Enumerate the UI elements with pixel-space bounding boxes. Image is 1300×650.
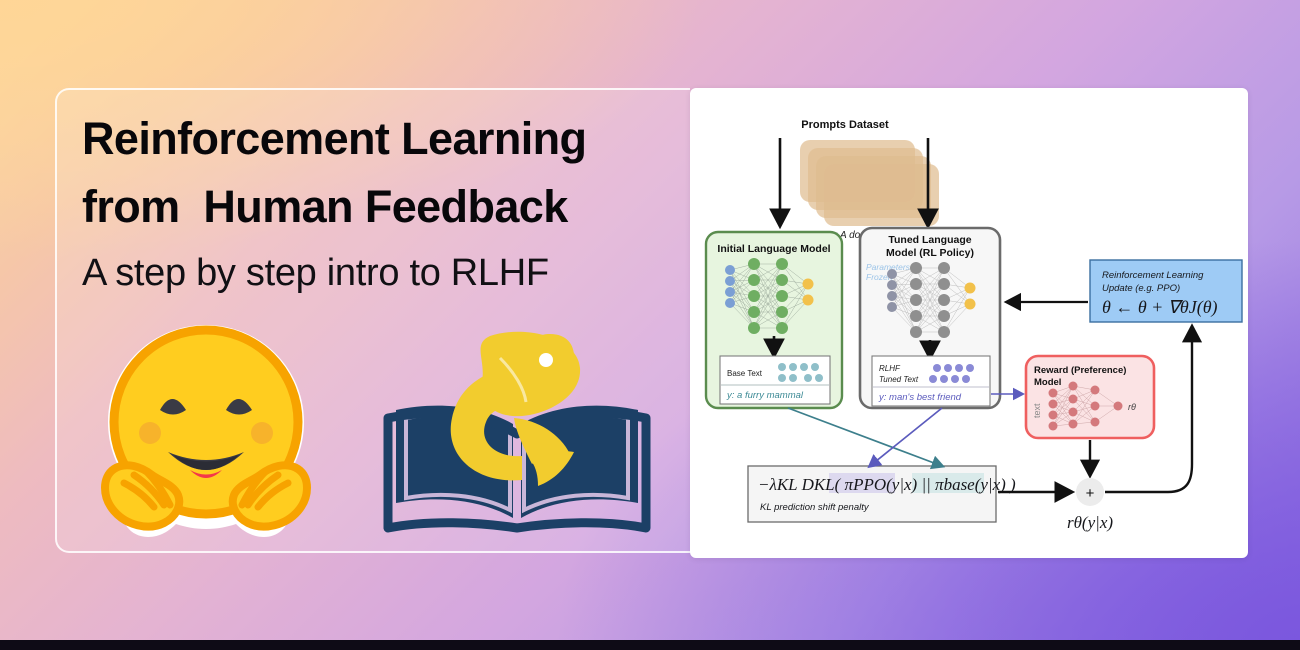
deep-rl-course-logo xyxy=(382,322,652,537)
tuned-text-box: RLHF Tuned Text y: man's best friend xyxy=(872,356,990,406)
reward-model-output-label: rθ xyxy=(1128,402,1136,412)
page-title-line-1: Reinforcement Learning xyxy=(82,105,682,173)
reward-model-title-2: Model xyxy=(1034,377,1061,388)
prompts-dataset-cards xyxy=(800,140,939,226)
tuned-model-title-2: Model (RL Policy) xyxy=(886,247,974,259)
rl-update-line-1: Reinforcement Learning xyxy=(1102,270,1204,281)
page-subtitle: A step by step intro to RLHF xyxy=(82,241,682,305)
base-text-label: Base Text xyxy=(727,369,763,378)
rlhf-diagram-card: Prompts Dataset x: A dog is... Initial L… xyxy=(690,88,1248,558)
poster-canvas: Reinforcement Learning from Human Feedba… xyxy=(0,0,1300,650)
arrow-basetext-to-kl xyxy=(788,408,942,466)
bottom-bar xyxy=(0,640,1300,650)
base-text-output: y: a furry mammal xyxy=(726,390,804,401)
reward-model-title-1: Reward (Preference) xyxy=(1034,365,1126,376)
rl-update-box: Reinforcement Learning Update (e.g. PPO)… xyxy=(1090,260,1242,322)
tuned-model-title-1: Tuned Language xyxy=(888,234,971,246)
initial-language-model-box: Initial Language Model xyxy=(706,232,842,408)
rl-update-formula: θ ← θ + ∇θJ(θ) xyxy=(1102,297,1218,318)
initial-model-title: Initial Language Model xyxy=(717,243,830,255)
kl-penalty-formula: −λKL DKL( πPPO(y|x) || πbase(y|x) ) xyxy=(758,475,1016,494)
reward-model-side-label: text xyxy=(1032,403,1042,418)
tuned-text-label-2: Tuned Text xyxy=(879,375,919,384)
tuned-language-model-box: Tuned Language Model (RL Policy) Paramet… xyxy=(860,228,1000,408)
prompts-dataset-group: Prompts Dataset x: A dog is... xyxy=(780,119,939,241)
title-block: Reinforcement Learning from Human Feedba… xyxy=(82,105,682,305)
base-text-box: Base Text y: a furry mammal xyxy=(720,356,830,404)
tuned-text-label-1: RLHF xyxy=(879,364,901,373)
logo-row: + xyxy=(82,310,662,545)
kl-penalty-caption: KL prediction shift penalty xyxy=(760,502,870,513)
rl-update-line-2: Update (e.g. PPO) xyxy=(1102,283,1180,294)
reward-model-box: Reward (Preference) Model text rθ xyxy=(1026,356,1154,438)
sum-node-symbol: + xyxy=(1086,485,1095,502)
arrow-tunedtext-to-kl xyxy=(870,408,942,466)
tuned-model-note-1: Parameters xyxy=(866,262,911,272)
prompts-dataset-label: Prompts Dataset xyxy=(801,119,889,131)
tuned-text-output: y: man's best friend xyxy=(878,392,962,403)
page-title-line-2: from Human Feedback xyxy=(82,173,682,241)
kl-penalty-box: −λKL DKL( πPPO(y|x) || πbase(y|x) ) KL p… xyxy=(748,466,1016,522)
reward-output-label: rθ(y|x) xyxy=(1067,513,1113,532)
hugging-face-logo xyxy=(90,315,322,540)
rlhf-diagram: Prompts Dataset x: A dog is... Initial L… xyxy=(690,88,1248,558)
